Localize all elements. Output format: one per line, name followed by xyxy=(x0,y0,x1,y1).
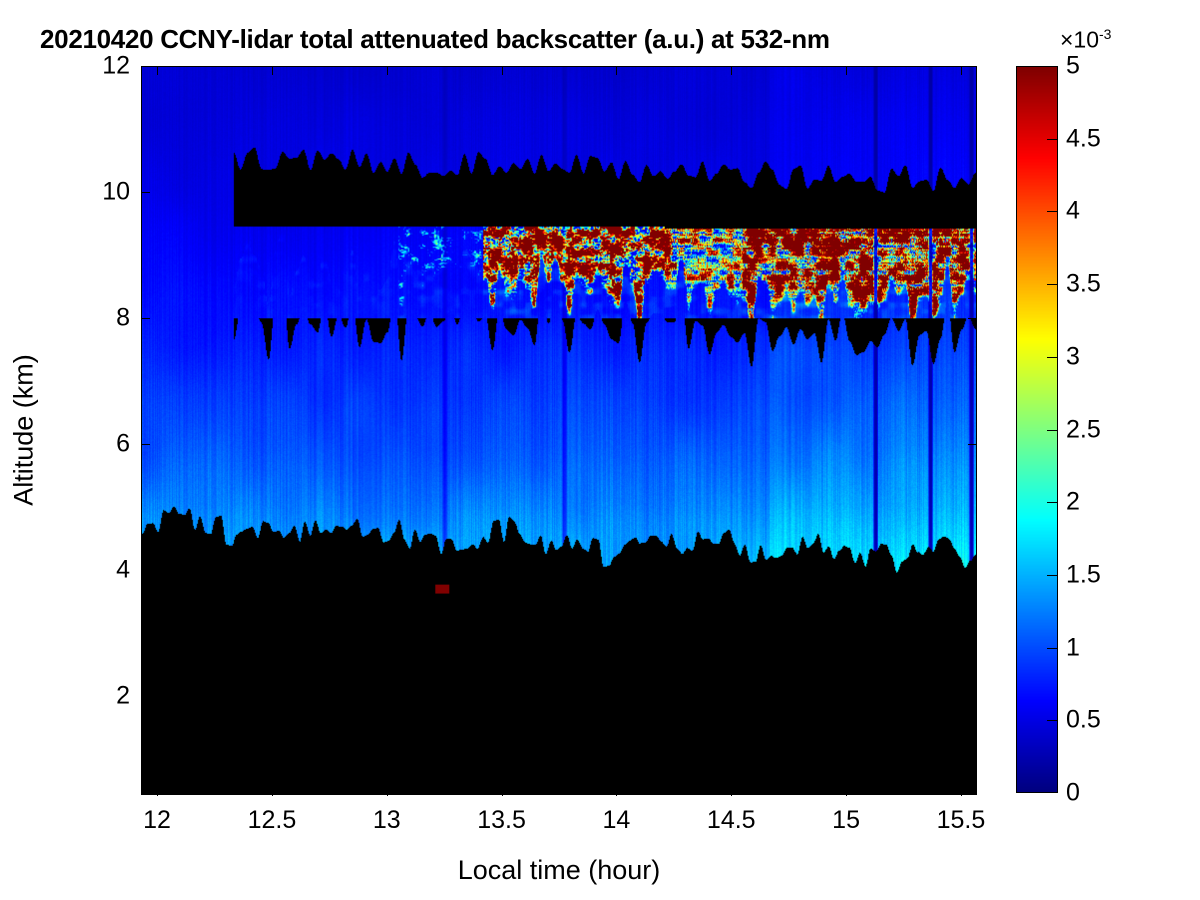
y-axis-title: Altitude (km) xyxy=(9,354,40,506)
y-axis-tick-right xyxy=(968,66,977,67)
x-axis-tick-label: 14.5 xyxy=(707,806,756,835)
y-axis-tick xyxy=(141,696,150,697)
x-axis-tick-top xyxy=(616,66,617,75)
colorbar-tick xyxy=(1047,502,1057,503)
x-axis-tick-label: 12.5 xyxy=(248,806,297,835)
x-axis-tick xyxy=(731,787,732,796)
x-axis-tick xyxy=(502,787,503,796)
y-axis-tick-label: 4 xyxy=(116,555,130,584)
colorbar-tick-label: 4.5 xyxy=(1066,124,1101,153)
x-axis-tick xyxy=(616,787,617,796)
x-axis-tick-top xyxy=(157,66,158,75)
y-axis-tick-right xyxy=(968,444,977,445)
x-axis-tick-label: 15.5 xyxy=(937,806,986,835)
colorbar-tick-label: 4 xyxy=(1066,197,1080,226)
colorbar-tick xyxy=(1047,357,1057,358)
x-axis-tick xyxy=(157,787,158,796)
x-axis-tick-top xyxy=(731,66,732,75)
y-axis-tick-label: 6 xyxy=(116,429,130,458)
y-axis-tick-label: 12 xyxy=(102,52,130,81)
x-axis-tick-top xyxy=(272,66,273,75)
lidar-figure: 20210420 CCNY-lidar total attenuated bac… xyxy=(0,0,1200,900)
colorbar-tick xyxy=(1047,648,1057,649)
x-axis-tick xyxy=(272,787,273,796)
colorbar-tick xyxy=(1047,430,1057,431)
colorbar-tick xyxy=(1047,139,1057,140)
colorbar-tick-label: 0 xyxy=(1066,779,1080,808)
y-axis-tick-right xyxy=(968,318,977,319)
colorbar-tick xyxy=(1047,575,1057,576)
x-axis-tick-top xyxy=(387,66,388,75)
x-axis-tick-top xyxy=(502,66,503,75)
x-axis-tick xyxy=(961,787,962,796)
colorbar-tick-label: 3 xyxy=(1066,342,1080,371)
y-axis-tick-label: 2 xyxy=(116,681,130,710)
page-title: 20210420 CCNY-lidar total attenuated bac… xyxy=(40,24,830,55)
y-axis-tick-label: 10 xyxy=(102,177,130,206)
y-axis-tick xyxy=(141,66,150,67)
x-axis-tick-label: 15 xyxy=(832,806,860,835)
y-axis-tick xyxy=(141,570,150,571)
x-axis-tick xyxy=(846,787,847,796)
y-axis-tick xyxy=(141,192,150,193)
colorbar-exponent-power: -3 xyxy=(1099,26,1111,42)
colorbar-tick-label: 3.5 xyxy=(1066,270,1101,299)
colorbar-tick xyxy=(1047,720,1057,721)
heatmap-plot-area xyxy=(141,66,977,795)
colorbar-tick-label: 2.5 xyxy=(1066,415,1101,444)
colorbar-tick-label: 1.5 xyxy=(1066,560,1101,589)
y-axis-tick-label: 8 xyxy=(116,303,130,332)
colorbar-exponent-label: ×10-3 xyxy=(1060,26,1111,54)
x-axis-tick-label: 14 xyxy=(603,806,631,835)
y-axis-tick xyxy=(141,318,150,319)
x-axis-tick-label: 12 xyxy=(143,806,171,835)
colorbar-tick xyxy=(1047,211,1057,212)
colorbar-tick xyxy=(1047,284,1057,285)
colorbar-tick-label: 1 xyxy=(1066,633,1080,662)
heatmap-canvas xyxy=(142,67,976,794)
y-axis-tick-right xyxy=(968,696,977,697)
x-axis-title: Local time (hour) xyxy=(458,855,661,886)
colorbar-tick-label: 0.5 xyxy=(1066,706,1101,735)
x-axis-tick-top xyxy=(961,66,962,75)
x-axis-tick-label: 13 xyxy=(373,806,401,835)
y-axis-tick-right xyxy=(968,192,977,193)
x-axis-tick-label: 13.5 xyxy=(477,806,526,835)
colorbar-tick-label: 2 xyxy=(1066,488,1080,517)
x-axis-tick-top xyxy=(846,66,847,75)
y-axis-tick-right xyxy=(968,570,977,571)
colorbar-exponent-base: ×10 xyxy=(1060,27,1099,53)
x-axis-tick xyxy=(387,787,388,796)
y-axis-tick xyxy=(141,444,150,445)
colorbar-tick-label: 5 xyxy=(1066,52,1080,81)
